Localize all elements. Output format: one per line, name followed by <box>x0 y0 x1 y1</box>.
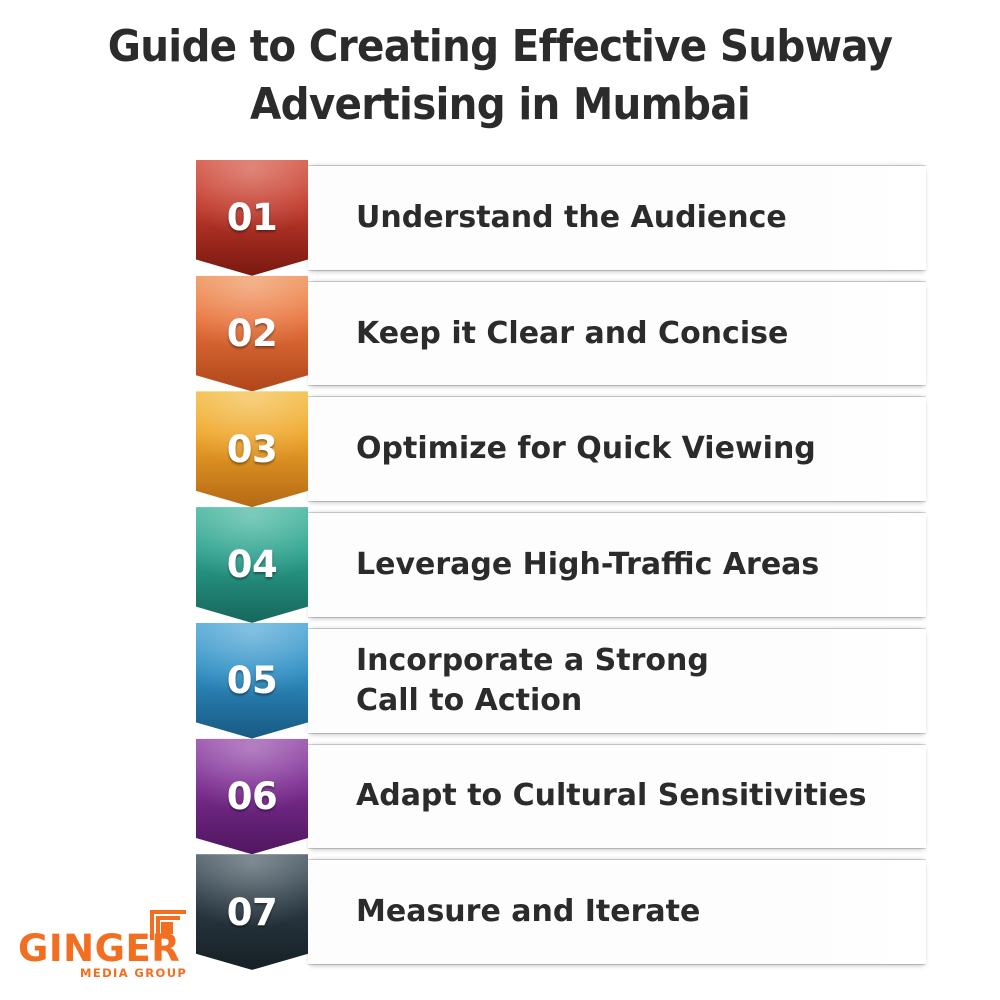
step-number: 01 <box>227 196 278 239</box>
step-number: 05 <box>227 659 278 702</box>
step-number: 04 <box>227 543 278 586</box>
step-number-band: 05 <box>196 623 308 739</box>
step-label: Measure and Iterate <box>356 892 914 932</box>
step-number-band: 04 <box>196 507 308 623</box>
page-title: Guide to Creating Effective Subway Adver… <box>0 18 1000 134</box>
steps-list: 01Understand the Audience02Keep it Clear… <box>196 160 926 970</box>
step-number-band: 01 <box>196 160 308 276</box>
logo-wordmark: GINGER <box>18 930 180 968</box>
step-label: Optimize for Quick Viewing <box>356 429 914 469</box>
infographic-poster: Guide to Creating Effective Subway Adver… <box>0 0 1000 1000</box>
step-number-band: 03 <box>196 391 308 507</box>
step-row[interactable]: 07Measure and Iterate <box>196 854 926 970</box>
title-line-1: Guide to Creating Effective Subway <box>40 18 960 76</box>
title-line-2: Advertising in Mumbai <box>40 76 960 134</box>
step-label: Keep it Clear and Concise <box>356 314 914 354</box>
step-label: Understand the Audience <box>356 198 914 238</box>
step-label: Incorporate a Strong Call to Action <box>356 641 914 721</box>
step-number-band: 06 <box>196 739 308 855</box>
step-label: Adapt to Cultural Sensitivities <box>356 776 914 816</box>
step-label: Leverage High-Traffic Areas <box>356 545 914 585</box>
brand-logo: GINGER MEDIA GROUP <box>18 904 208 982</box>
step-row[interactable]: 04Leverage High-Traffic Areas <box>196 507 926 623</box>
step-number: 02 <box>227 312 278 355</box>
step-number-band: 02 <box>196 276 308 392</box>
step-number: 03 <box>227 428 278 471</box>
step-number-band: 07 <box>196 854 308 970</box>
step-row[interactable]: 06Adapt to Cultural Sensitivities <box>196 739 926 855</box>
step-row[interactable]: 03Optimize for Quick Viewing <box>196 391 926 507</box>
step-row[interactable]: 01Understand the Audience <box>196 160 926 276</box>
step-row[interactable]: 02Keep it Clear and Concise <box>196 276 926 392</box>
step-number: 07 <box>227 891 278 934</box>
step-number: 06 <box>227 775 278 818</box>
step-row[interactable]: 05Incorporate a Strong Call to Action <box>196 623 926 739</box>
logo-subtitle: MEDIA GROUP <box>80 966 187 980</box>
